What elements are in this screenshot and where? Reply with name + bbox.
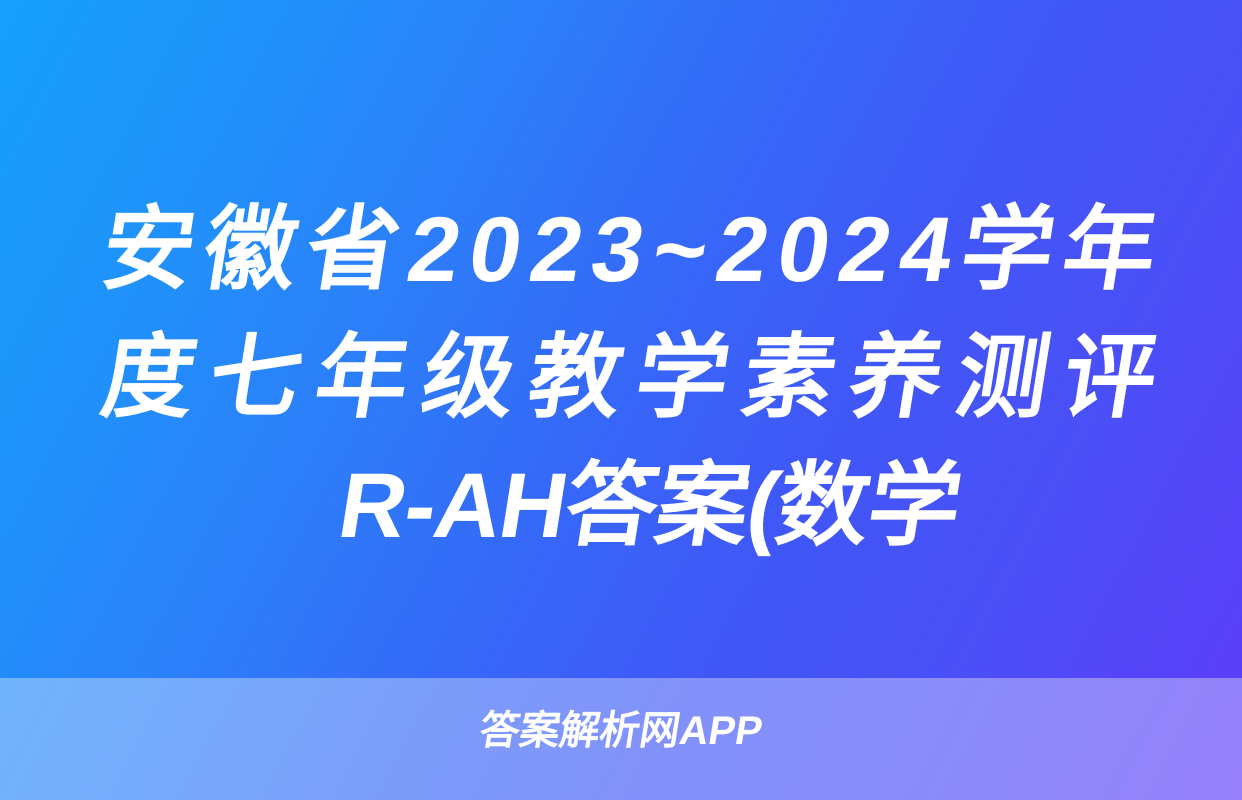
headline-char: 0 bbox=[460, 186, 530, 314]
headline-char: 3 bbox=[582, 186, 652, 314]
headline-char: ~ bbox=[643, 186, 716, 314]
headline-char: 省 bbox=[297, 186, 408, 314]
poster-canvas: 安 徽 省 2 0 2 3 ~ 2 0 2 4 学 年 度 七 年 级 教 学 … bbox=[0, 0, 1242, 800]
headline-char: 徽 bbox=[195, 186, 306, 314]
headline-char: 评 bbox=[1054, 314, 1165, 442]
headline-char: 年 bbox=[1054, 186, 1165, 314]
headline-char: 教 bbox=[520, 314, 631, 442]
headline-char: 级 bbox=[413, 314, 524, 442]
headline-line-2: 度 七 年 级 教 学 素 养 测 评 bbox=[93, 314, 1165, 442]
headline-line-3: R-AH答案(数学 bbox=[93, 442, 1165, 570]
headline-char: 2 bbox=[707, 186, 777, 314]
headline-char: 学 bbox=[627, 314, 738, 442]
headline-char: 养 bbox=[840, 314, 951, 442]
headline-char: 度 bbox=[93, 314, 204, 442]
headline-block: 安 徽 省 2 0 2 3 ~ 2 0 2 4 学 年 度 七 年 级 教 学 … bbox=[103, 186, 1155, 570]
headline-char: 学 bbox=[952, 186, 1063, 314]
headline-char: 0 bbox=[768, 186, 838, 314]
headline-char: 素 bbox=[733, 314, 844, 442]
headline-char: 2 bbox=[830, 186, 900, 314]
headline-char: 年 bbox=[306, 314, 417, 442]
headline-char: 2 bbox=[399, 186, 469, 314]
headline-line-1: 安 徽 省 2 0 2 3 ~ 2 0 2 4 学 年 bbox=[93, 186, 1165, 314]
watermark-label: 答案解析网APP bbox=[0, 708, 1242, 754]
headline-char: 2 bbox=[521, 186, 591, 314]
headline-char: 七 bbox=[200, 314, 311, 442]
headline-char: 4 bbox=[891, 186, 961, 314]
headline-char: 安 bbox=[93, 186, 204, 314]
headline-char: 测 bbox=[947, 314, 1058, 442]
